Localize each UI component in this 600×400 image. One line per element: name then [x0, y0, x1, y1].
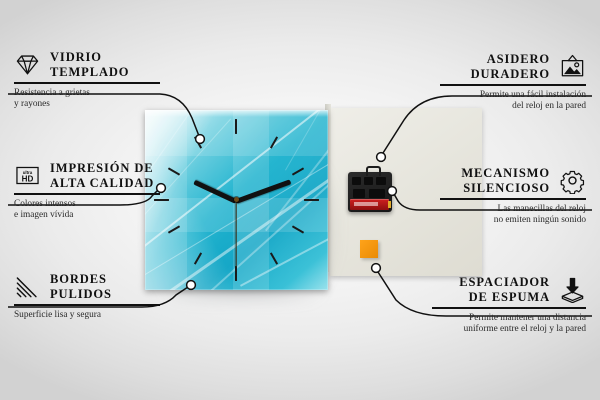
connector-dot-silent-mechanism — [388, 187, 397, 196]
feature-title-line2: SILENCIOSO — [463, 181, 550, 196]
feature-desc-line2: y rayones — [14, 99, 50, 109]
connector-dot-foam-spacer — [372, 264, 381, 273]
feature-title-line2: DE ESPUMA — [469, 290, 550, 305]
feature-desc-line1: Resistencia a grietas — [14, 88, 90, 98]
feature-divider — [14, 193, 160, 195]
svg-text:HD: HD — [22, 175, 34, 184]
diamond-icon — [14, 51, 41, 78]
feature-title-line2: TEMPLADO — [50, 65, 129, 80]
feature-desc-line2: e imagen vívida — [14, 210, 73, 220]
gear-icon — [559, 167, 586, 194]
feature-foam-spacer: ESPACIADOR DE ESPUMA Permite mantener un… — [432, 275, 586, 336]
feature-desc-line1: Permite una fácil instalación — [480, 90, 586, 100]
feature-tempered-glass: VIDRIO TEMPLADO Resistencia a grietas y … — [14, 50, 160, 111]
feature-title-line1: MECANISMO — [461, 166, 550, 181]
feature-desc-line2: uniforme entre el reloj y la pared — [464, 324, 586, 334]
feature-hd-print: ultra HD IMPRESIÓN DE ALTA CALIDAD Color… — [14, 161, 160, 222]
infographic-canvas: VIDRIO TEMPLADO Resistencia a grietas y … — [0, 0, 600, 400]
feature-divider — [440, 84, 586, 86]
feature-desc-line2: no emiten ningún sonido — [494, 215, 586, 225]
feature-title-line1: ASIDERO — [487, 52, 550, 67]
ultra-hd-icon: ultra HD — [14, 162, 41, 189]
feature-desc-line1: Permite mantener una distancia — [469, 313, 586, 323]
feature-polished-edges: BORDES PULIDOS Superficie lisa y segura — [14, 272, 160, 321]
feature-durable-hanger: ASIDERO DURADERO Permite una fácil insta… — [440, 52, 586, 113]
feature-divider — [14, 304, 160, 306]
connector-dot-tempered-glass — [196, 135, 205, 144]
feature-title-line2: DURADERO — [471, 67, 550, 82]
feature-title-line1: BORDES — [50, 272, 107, 287]
feature-desc-line2: del reloj en la pared — [512, 101, 586, 111]
diagonal-stripes-icon — [14, 273, 41, 300]
feature-desc-line1: Colores intensos — [14, 199, 76, 209]
arrow-press-pad-icon — [559, 276, 586, 303]
feature-title-line1: ESPACIADOR — [459, 275, 550, 290]
connector-dot-polished-edges — [187, 281, 196, 290]
feature-title-line1: IMPRESIÓN DE — [50, 161, 154, 176]
feature-title-line2: ALTA CALIDAD — [50, 176, 154, 191]
connector-dot-durable-hanger — [377, 153, 386, 162]
feature-divider — [432, 307, 586, 309]
hanging-picture-icon — [559, 53, 586, 80]
feature-title-line1: VIDRIO — [50, 50, 102, 65]
feature-divider — [14, 82, 160, 84]
feature-desc-line1: Superficie lisa y segura — [14, 310, 101, 320]
feature-silent-mechanism: MECANISMO SILENCIOSO Las manecillas del … — [440, 166, 586, 227]
feature-desc-line1: Las manecillas del reloj — [497, 204, 586, 214]
feature-title-line2: PULIDOS — [50, 287, 112, 302]
feature-divider — [440, 198, 586, 200]
